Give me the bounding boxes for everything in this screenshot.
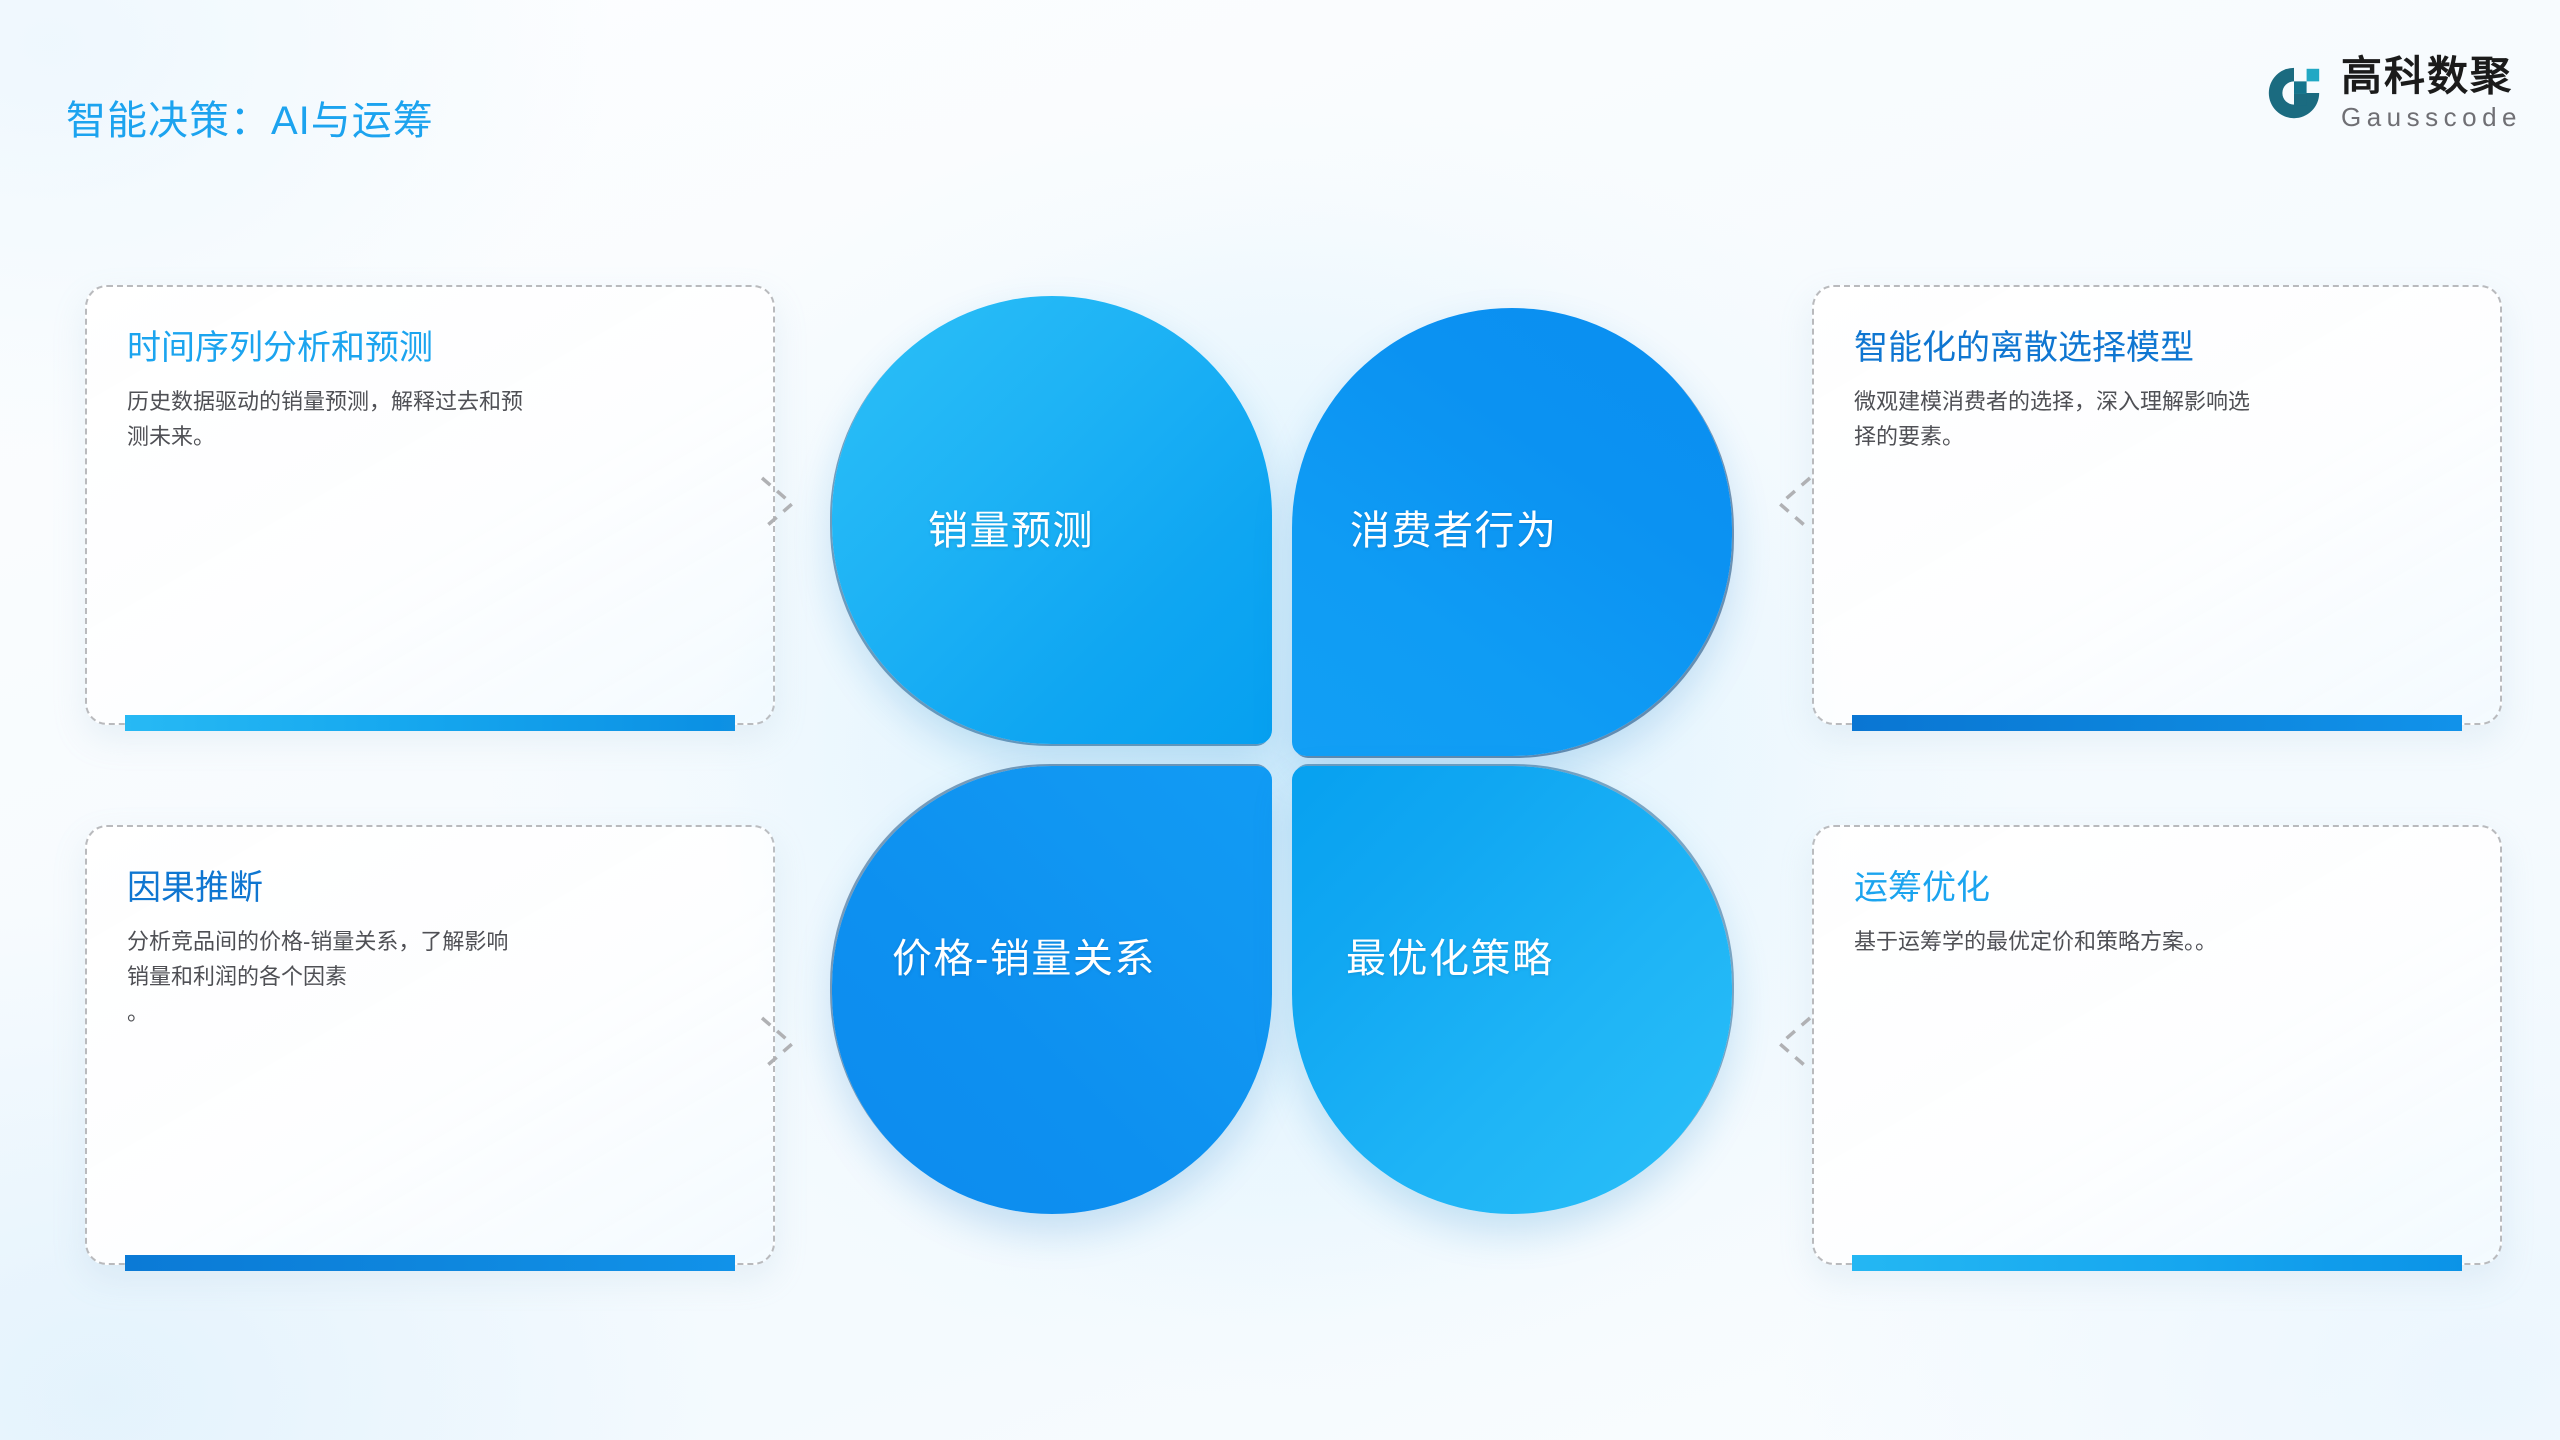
card-body: 分析竞品间的价格-销量关系，了解影响 销量和利润的各个因素 。 <box>127 924 733 1031</box>
card-accent-bar <box>125 1255 735 1271</box>
connector-chevron-left-bottom <box>1770 1010 1814 1078</box>
logo-name-cn: 高科数聚 <box>2341 56 2522 97</box>
card-time-series[interactable]: 时间序列分析和预测 历史数据驱动的销量预测，解释过去和预 测未来。 <box>85 285 775 725</box>
connector-chevron-right-top <box>758 470 802 538</box>
card-body: 历史数据驱动的销量预测，解释过去和预 测未来。 <box>127 384 733 455</box>
slide-canvas: 智能决策：AI与运筹 高科数聚 Gausscode 时间序列分析和预测 历史数据… <box>0 0 2560 1440</box>
card-accent-bar <box>1852 1255 2462 1271</box>
card-causal-inference[interactable]: 因果推断 分析竞品间的价格-销量关系，了解影响 销量和利润的各个因素 。 <box>85 825 775 1265</box>
card-title: 时间序列分析和预测 <box>127 327 733 370</box>
flower-diagram: 销量预测 消费者行为 价格-销量关系 最优化策略 <box>832 296 1732 1216</box>
card-content: 因果推断 分析竞品间的价格-销量关系，了解影响 销量和利润的各个因素 。 <box>127 867 733 1030</box>
card-operations-research[interactable]: 运筹优化 基于运筹学的最优定价和策略方案。。 <box>1812 825 2502 1265</box>
card-body: 基于运筹学的最优定价和策略方案。。 <box>1854 924 2460 960</box>
petal-label: 价格-销量关系 <box>892 926 1156 984</box>
card-content: 智能化的离散选择模型 微观建模消费者的选择，深入理解影响选 择的要素。 <box>1854 327 2460 455</box>
petal-label: 最优化策略 <box>1346 926 1554 984</box>
connector-chevron-right-bottom <box>758 1010 802 1078</box>
petal-price-sales-relation[interactable]: 价格-销量关系 <box>832 766 1272 1214</box>
card-content: 运筹优化 基于运筹学的最优定价和策略方案。。 <box>1854 867 2460 959</box>
card-accent-bar <box>125 715 735 731</box>
connector-chevron-left-top <box>1770 470 1814 538</box>
gausscode-g-mark-icon <box>2263 62 2325 124</box>
brand-logo: 高科数聚 Gausscode <box>2263 56 2522 130</box>
card-title: 智能化的离散选择模型 <box>1854 327 2460 370</box>
card-body: 微观建模消费者的选择，深入理解影响选 择的要素。 <box>1854 384 2460 455</box>
card-discrete-choice[interactable]: 智能化的离散选择模型 微观建模消费者的选择，深入理解影响选 择的要素。 <box>1812 285 2502 725</box>
card-accent-bar <box>1852 715 2462 731</box>
petal-consumer-behavior[interactable]: 消费者行为 <box>1292 308 1732 756</box>
page-title: 智能决策：AI与运筹 <box>66 98 434 144</box>
petal-optimal-strategy[interactable]: 最优化策略 <box>1292 766 1732 1214</box>
logo-name-en: Gausscode <box>2341 104 2522 130</box>
card-title: 因果推断 <box>127 867 733 910</box>
flower-glow <box>712 186 1852 1336</box>
petal-sales-forecast[interactable]: 销量预测 <box>832 296 1272 744</box>
card-content: 时间序列分析和预测 历史数据驱动的销量预测，解释过去和预 测未来。 <box>127 327 733 455</box>
card-title: 运筹优化 <box>1854 867 2460 910</box>
petal-label: 销量预测 <box>928 498 1094 556</box>
petal-label: 消费者行为 <box>1350 498 1558 556</box>
